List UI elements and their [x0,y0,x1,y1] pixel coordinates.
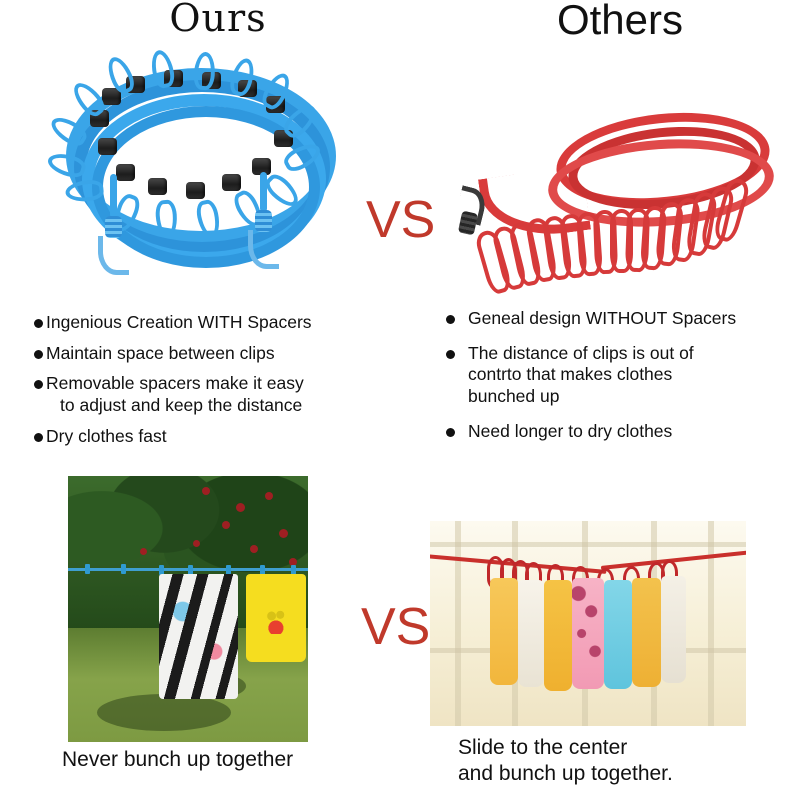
hanging-sock [490,578,518,685]
hanging-sock [661,576,686,683]
list-item: Need longer to dry clothes [446,421,794,443]
list-item-label: Removable spacers make it easy to adjust… [46,373,394,416]
hook-right [248,230,279,269]
list-item-label: The distance of clips is out of contrto … [468,343,794,408]
list-item: Dry clothes fast [34,426,394,448]
comparison-infographic: Ours Others [0,0,800,800]
list-item-label: Dry clothes fast [46,426,394,448]
hook-left [98,236,129,275]
hanging-sock [572,578,604,689]
list-item-label: Ingenious Creation WITH Spacers [46,312,394,334]
vs-label-bottom: VS [361,597,430,657]
page-title-ours: Ours [98,0,338,40]
hook-cord-left [110,174,117,218]
photo-spaced-garments [68,476,308,742]
photo-berry [222,521,230,529]
bullet-dot-icon [34,350,43,359]
spacer-bead [222,174,241,191]
hanging-sock [632,578,660,687]
vs-label-top: VS [366,190,435,250]
tshirt-print [260,604,291,634]
clothes-peg [85,564,90,574]
list-item: Geneal design WITHOUT Spacers [446,308,794,330]
bullet-dot-icon [446,315,455,324]
list-item: Maintain space between clips [34,343,394,365]
photo-berry [193,540,200,547]
hanging-sock [604,580,632,689]
photo-bunched-socks [430,521,746,726]
hook-knot-black [458,211,478,236]
bullet-dot-icon [446,428,455,437]
list-item-line-3: bunched up [468,386,794,408]
clothes-peg [121,564,126,574]
list-item-label: Geneal design WITHOUT Spacers [468,308,794,330]
hook-cord-right [260,172,267,212]
window-rail [430,542,746,547]
bullet-dot-icon [446,350,455,359]
hanging-tshirt-yellow [246,574,306,662]
spacer-bead [116,164,135,181]
list-item-label: Maintain space between clips [46,343,394,365]
photo-berry [140,548,147,555]
feature-list-others: Geneal design WITHOUT Spacers The distan… [446,308,794,455]
product-image-ours [52,54,342,306]
hook-knot-right [255,210,272,232]
spacer-bead [98,138,117,155]
hanging-garment-patterned [159,574,238,699]
product-image-others [452,100,800,300]
caption-ours: Never bunch up together [62,747,293,773]
list-item-label: Need longer to dry clothes [468,421,794,443]
bullet-dot-icon [34,319,43,328]
photo-berry [265,492,273,500]
list-item-line-1: Removable spacers make it easy [46,373,304,393]
spacer-bead [186,182,205,199]
hanging-sock [518,580,543,687]
window-mullion [708,521,714,726]
page-title-others: Others [490,0,750,44]
hanging-sock [544,580,572,691]
window-mullion [455,521,461,726]
list-item: Removable spacers make it easy to adjust… [34,373,394,416]
bullet-dot-icon [34,433,43,442]
feature-list-ours: Ingenious Creation WITH Spacers Maintain… [34,312,394,456]
caption-others: Slide to the center and bunch up togethe… [458,735,673,787]
bullet-dot-icon [34,380,43,389]
list-item-line-2: contrto that makes clothes [468,364,794,386]
spacer-bead [148,178,167,195]
list-item-line-2: to adjust and keep the distance [46,395,394,417]
list-item: Ingenious Creation WITH Spacers [34,312,394,334]
hook-knot-left [105,216,122,238]
photo-berry [236,503,245,512]
list-item-line-1: The distance of clips is out of [468,343,694,363]
list-item: The distance of clips is out of contrto … [446,343,794,408]
